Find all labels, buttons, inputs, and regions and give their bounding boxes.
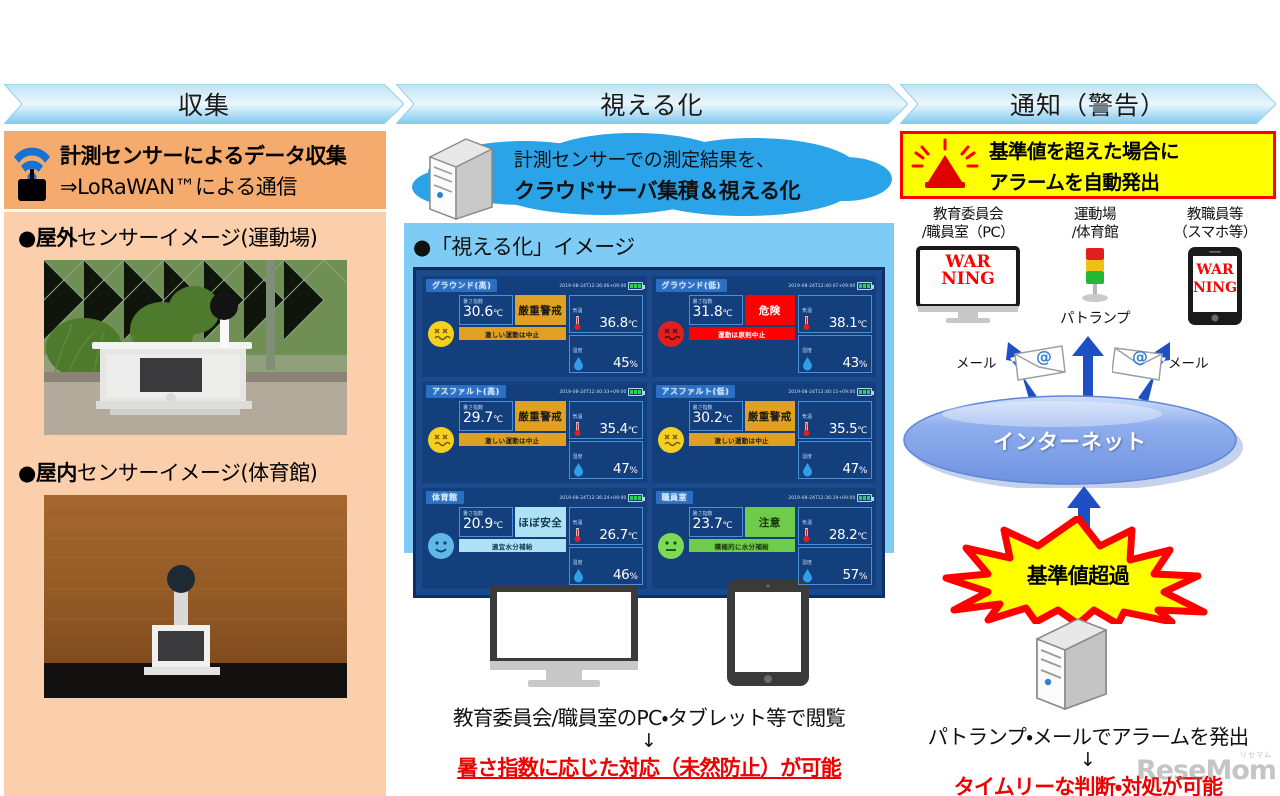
visualize-caption-line2: 暑さ指数に応じた対応（未然防止）が可能 bbox=[404, 752, 894, 782]
dest-label-line1: 運動場 bbox=[1036, 206, 1154, 224]
dashboard-card[interactable]: 職員室2019-08-24T12:36:19+09:00暑さ指数23.7℃注意積… bbox=[652, 488, 877, 589]
alert-level-badge: 厳重警戒 bbox=[515, 295, 565, 325]
indoor-strong: 屋内 bbox=[36, 461, 77, 485]
temperature-row: 35.4℃ bbox=[573, 421, 640, 437]
temperature-label: 気温 bbox=[802, 414, 812, 420]
wbgt-number: 23.7 bbox=[693, 516, 723, 532]
temperature-unit: ℃ bbox=[857, 320, 867, 330]
alarm-callout: 基準値を超えた場合に アラームを自動発出 bbox=[900, 131, 1276, 199]
notify-caption-line1: パトランプ・メールでアラームを発出 bbox=[900, 720, 1276, 750]
card-main: 暑さ指数23.7℃注意積極的に水分補給 bbox=[689, 507, 796, 585]
card-top-row: 暑さ指数30.2℃厳重警戒 bbox=[689, 401, 796, 431]
wbgt-unit: ℃ bbox=[722, 309, 732, 319]
notification-flow: メール @ @ メール bbox=[900, 330, 1276, 722]
cloud-line1: 計測センサーでの測定結果を、 bbox=[514, 145, 800, 172]
stage-header-notify-label: 通知（警告） bbox=[1010, 86, 1166, 122]
card-top-row: 暑さ指数31.8℃危険 bbox=[689, 295, 796, 325]
source-server bbox=[1028, 614, 1114, 714]
indoor-rest: センサーイメージ(体育館) bbox=[77, 461, 317, 485]
temperature-label: 気温 bbox=[573, 520, 583, 526]
card-main: 暑さ指数30.6℃厳重警戒激しい運動は中止 bbox=[459, 295, 566, 373]
card-timestamp: 2019-08-24T12:36:19+09:00 bbox=[789, 495, 856, 500]
humidity-unit: % bbox=[859, 466, 867, 476]
cloud-line2: クラウドサーバ集積＆視える化 bbox=[514, 175, 800, 205]
wbgt-unit: ℃ bbox=[493, 521, 503, 531]
dest-icon-wrap: WAR NING bbox=[900, 246, 1036, 324]
dashboard-card[interactable]: グラウンド(高)2019-08-24T12:36:06+09:00暑さ指数30.… bbox=[422, 276, 647, 377]
temperature-unit: ℃ bbox=[628, 532, 638, 542]
mail-icon: @ bbox=[1112, 340, 1168, 384]
temperature-box: 気温35.5℃ bbox=[798, 401, 872, 439]
card-meta: 2019-08-24T12:40:07+09:00 bbox=[790, 282, 872, 290]
card-metrics: 気温35.5℃湿度47% bbox=[798, 401, 872, 479]
water-drop-icon bbox=[802, 568, 813, 583]
dest-label-line1: 教育委員会 bbox=[900, 206, 1036, 224]
svg-text:@: @ bbox=[1036, 347, 1052, 366]
humidity-label: 湿度 bbox=[802, 348, 812, 354]
notification-destinations: 教育委員会 /職員室（PC） WAR NING bbox=[900, 206, 1276, 328]
wbgt-number: 31.8 bbox=[693, 304, 723, 320]
card-timestamp: 2019-08-24T12:40:07+09:00 bbox=[789, 283, 856, 288]
temperature-number: 36.8 bbox=[599, 315, 627, 331]
card-head: グラウンド(低)2019-08-24T12:40:07+09:00 bbox=[656, 279, 873, 292]
wbgt-number: 29.7 bbox=[463, 410, 493, 426]
card-head: グラウンド(高)2019-08-24T12:36:06+09:00 bbox=[426, 279, 643, 292]
stage-header-notify: 通知（警告） bbox=[900, 84, 1276, 124]
temperature-row: 28.2℃ bbox=[802, 527, 869, 543]
status-face-icon bbox=[656, 295, 686, 373]
wbgt-box: 暑さ指数23.7℃ bbox=[689, 507, 743, 537]
phone-warning-text: WAR NING bbox=[1187, 262, 1243, 297]
temperature-unit: ℃ bbox=[628, 426, 638, 436]
status-face-icon bbox=[656, 507, 686, 585]
alarm-text: 基準値を超えた場合に アラームを自動発出 bbox=[989, 135, 1267, 195]
temperature-number: 26.7 bbox=[599, 527, 627, 543]
card-top-row: 暑さ指数29.7℃厳重警戒 bbox=[459, 401, 566, 431]
wbgt-box: 暑さ指数31.8℃ bbox=[689, 295, 743, 325]
visualization-panel: ●「視える化」イメージ グラウンド(高)2019-08-24T12:36:06+… bbox=[404, 223, 894, 553]
temperature-unit: ℃ bbox=[857, 426, 867, 436]
infographic-root: 収集 視える化 通知（警告） bbox=[0, 0, 1280, 796]
temperature-value: 36.8℃ bbox=[585, 315, 640, 331]
temperature-unit: ℃ bbox=[628, 320, 638, 330]
humidity-number: 47 bbox=[613, 461, 629, 477]
humidity-box: 湿度47% bbox=[798, 441, 872, 479]
alert-level-badge: ほぼ安全 bbox=[515, 507, 565, 537]
card-top-row: 暑さ指数30.6℃厳重警戒 bbox=[459, 295, 566, 325]
humidity-number: 47 bbox=[842, 461, 858, 477]
humidity-box: 湿度57% bbox=[798, 547, 872, 585]
status-face-icon bbox=[426, 401, 456, 479]
burst-label: 基準値超過 bbox=[918, 560, 1238, 590]
temperature-label: 気温 bbox=[802, 308, 812, 314]
stage-header-visualize: 視える化 bbox=[396, 84, 908, 124]
card-timestamp: 2019-08-24T12:36:24+09:00 bbox=[559, 495, 626, 500]
humidity-unit: % bbox=[629, 360, 637, 370]
card-meta: 2019-08-24T12:36:19+09:00 bbox=[790, 494, 872, 502]
temperature-label: 気温 bbox=[573, 308, 583, 314]
humidity-box: 湿度47% bbox=[569, 441, 643, 479]
temperature-number: 35.5 bbox=[829, 421, 857, 437]
thermometer-icon bbox=[573, 315, 582, 331]
wbgt-unit: ℃ bbox=[722, 521, 732, 531]
visualization-title: ●「視える化」イメージ bbox=[413, 231, 885, 261]
card-top-row: 暑さ指数23.7℃注意 bbox=[689, 507, 796, 537]
advice-bar: 激しい運動は中止 bbox=[459, 327, 566, 340]
humidity-value: 46% bbox=[587, 567, 640, 583]
wbgt-box: 暑さ指数29.7℃ bbox=[459, 401, 513, 431]
temperature-row: 26.7℃ bbox=[573, 527, 640, 543]
alarm-light-icon bbox=[909, 138, 981, 192]
thermometer-icon bbox=[802, 315, 811, 331]
card-main: 暑さ指数31.8℃危険運動は原則中止 bbox=[689, 295, 796, 373]
patlite-caption: パトランプ bbox=[1036, 310, 1154, 328]
temperature-value: 35.4℃ bbox=[585, 421, 640, 437]
alert-level-badge: 厳重警戒 bbox=[515, 401, 565, 431]
humidity-value: 57% bbox=[816, 567, 869, 583]
outdoor-rest: センサーイメージ(運動場) bbox=[77, 226, 317, 250]
card-metrics: 気温36.8℃湿度45% bbox=[569, 295, 643, 373]
svg-text:@: @ bbox=[1132, 347, 1148, 366]
alert-level-badge: 注意 bbox=[745, 507, 795, 537]
internet-cloud: インターネット bbox=[902, 392, 1246, 488]
card-timestamp: 2019-08-24T12:40:33+09:00 bbox=[559, 389, 626, 394]
visualize-caption: 教育委員会/職員室のPC・タブレット等で閲覧 ↓ 暑さ指数に応じた対応（未然防止… bbox=[404, 701, 894, 782]
card-body: 暑さ指数30.6℃厳重警戒激しい運動は中止気温36.8℃湿度45% bbox=[426, 295, 643, 373]
card-head: アスファルト(高)2019-08-24T12:40:33+09:00 bbox=[426, 385, 643, 398]
wbgt-number: 30.6 bbox=[463, 304, 493, 320]
dest-label: 運動場 /体育館 bbox=[1036, 206, 1154, 242]
card-head: 職員室2019-08-24T12:36:19+09:00 bbox=[656, 491, 873, 504]
humidity-number: 43 bbox=[842, 355, 858, 371]
alert-level-badge: 危険 bbox=[745, 295, 795, 325]
card-metrics: 気温38.1℃湿度43% bbox=[798, 295, 872, 373]
temperature-box: 気温35.4℃ bbox=[569, 401, 643, 439]
status-face-icon bbox=[426, 295, 456, 373]
card-meta: 2019-08-24T12:40:33+09:00 bbox=[561, 388, 643, 396]
water-drop-icon bbox=[573, 356, 584, 371]
dashboard-card[interactable]: アスファルト(低)2019-08-24T12:40:11+09:00暑さ指数30… bbox=[652, 382, 877, 483]
dashboard-screenshot: グラウンド(高)2019-08-24T12:36:06+09:00暑さ指数30.… bbox=[413, 267, 885, 598]
card-metrics: 気温26.7℃湿度46% bbox=[569, 507, 643, 585]
battery-icon bbox=[857, 388, 872, 396]
visualize-caption-arrow: ↓ bbox=[404, 731, 894, 752]
card-body: 暑さ指数31.8℃危険運動は原則中止気温38.1℃湿度43% bbox=[656, 295, 873, 373]
column-visualize: 計測センサーでの測定結果を、 クラウドサーバ集積＆視える化 ●「視える化」イメー… bbox=[404, 131, 894, 792]
temperature-value: 28.2℃ bbox=[814, 527, 869, 543]
humidity-row: 46% bbox=[573, 567, 640, 583]
battery-icon bbox=[628, 282, 643, 290]
card-body: 暑さ指数20.9℃ほぼ安全適宜水分補給気温26.7℃湿度46% bbox=[426, 507, 643, 585]
temperature-row: 36.8℃ bbox=[573, 315, 640, 331]
wbgt-value: 30.6℃ bbox=[463, 305, 509, 320]
battery-icon bbox=[857, 282, 872, 290]
humidity-label: 湿度 bbox=[802, 560, 812, 566]
water-drop-icon bbox=[802, 462, 813, 477]
status-face-icon bbox=[656, 401, 686, 479]
humidity-unit: % bbox=[629, 572, 637, 582]
temperature-box: 気温26.7℃ bbox=[569, 507, 643, 545]
card-timestamp: 2019-08-24T12:40:11+09:00 bbox=[789, 389, 856, 394]
indoor-sensor-title: ●屋内センサーイメージ(体育館) bbox=[4, 457, 386, 487]
humidity-number: 57 bbox=[842, 567, 858, 583]
temperature-label: 気温 bbox=[573, 414, 583, 420]
notify-caption: パトランプ・メールでアラームを発出 ↓ タイムリーな判断・対処が可能 bbox=[900, 720, 1276, 796]
column-notify: 基準値を超えた場合に アラームを自動発出 教育委員会 /職員室（PC） bbox=[900, 131, 1276, 792]
indoor-photo-graphic bbox=[44, 495, 347, 698]
card-metrics: 気温35.4℃湿度47% bbox=[569, 401, 643, 479]
outdoor-sensor-photo bbox=[44, 260, 347, 435]
temperature-row: 38.1℃ bbox=[802, 315, 869, 331]
wbgt-box: 暑さ指数30.6℃ bbox=[459, 295, 513, 325]
dashboard-card[interactable]: グラウンド(低)2019-08-24T12:40:07+09:00暑さ指数31.… bbox=[652, 276, 877, 377]
collect-panel-line2: ⇒LoRaWAN™による通信 bbox=[60, 171, 378, 201]
wbgt-box: 暑さ指数20.9℃ bbox=[459, 507, 513, 537]
wbgt-value: 20.9℃ bbox=[463, 517, 509, 532]
advice-bar: 激しい運動は中止 bbox=[689, 433, 796, 446]
card-location-name: 職員室 bbox=[656, 491, 694, 504]
dest-label-line2: /職員室（PC） bbox=[900, 224, 1036, 242]
water-drop-icon bbox=[573, 568, 584, 583]
thermometer-icon bbox=[573, 421, 582, 437]
card-main: 暑さ指数20.9℃ほぼ安全適宜水分補給 bbox=[459, 507, 566, 585]
card-top-row: 暑さ指数20.9℃ほぼ安全 bbox=[459, 507, 566, 537]
watermark-sub: リセマム bbox=[1240, 750, 1272, 760]
tablet-icon bbox=[726, 579, 810, 687]
dest-label: 教職員等 （スマホ等） bbox=[1154, 206, 1276, 242]
thermometer-icon bbox=[573, 527, 582, 543]
card-main: 暑さ指数29.7℃厳重警戒激しい運動は中止 bbox=[459, 401, 566, 479]
temperature-value: 35.5℃ bbox=[814, 421, 869, 437]
bullet: ● bbox=[18, 461, 36, 485]
wbgt-box: 暑さ指数30.2℃ bbox=[689, 401, 743, 431]
humidity-label: 湿度 bbox=[802, 454, 812, 460]
alarm-line2: アラームを自動発出 bbox=[989, 166, 1267, 195]
temperature-row: 35.5℃ bbox=[802, 421, 869, 437]
outdoor-strong: 屋外 bbox=[36, 226, 77, 250]
humidity-value: 47% bbox=[587, 461, 640, 477]
warning-line1: WAR bbox=[1187, 262, 1243, 280]
humidity-unit: % bbox=[629, 466, 637, 476]
dest-label-line2: /体育館 bbox=[1036, 224, 1154, 242]
dest-board-of-education: 教育委員会 /職員室（PC） WAR NING bbox=[900, 206, 1036, 328]
desktop-monitor-icon bbox=[488, 583, 640, 687]
sensor-images-panel: ●屋外センサーイメージ(運動場) bbox=[4, 212, 386, 796]
thermometer-icon bbox=[802, 421, 811, 437]
column-collect: 計測センサーによるデータ収集 ⇒LoRaWAN™による通信 ●屋外センサーイメー… bbox=[4, 131, 386, 792]
temperature-number: 38.1 bbox=[829, 315, 857, 331]
temperature-box: 気温38.1℃ bbox=[798, 295, 872, 333]
advice-bar: 適宜水分補給 bbox=[459, 539, 566, 552]
humidity-label: 湿度 bbox=[573, 560, 583, 566]
temperature-label: 気温 bbox=[802, 520, 812, 526]
humidity-unit: % bbox=[859, 572, 867, 582]
wbgt-value: 29.7℃ bbox=[463, 411, 509, 426]
humidity-number: 46 bbox=[613, 567, 629, 583]
battery-icon bbox=[857, 494, 872, 502]
notify-caption-arrow: ↓ bbox=[900, 750, 1276, 771]
dest-icon-wrap: WAR NING bbox=[1154, 246, 1276, 326]
stage-header-visualize-label: 視える化 bbox=[600, 86, 703, 122]
humidity-row: 47% bbox=[573, 461, 640, 477]
humidity-value: 43% bbox=[816, 355, 869, 371]
humidity-box: 湿度45% bbox=[569, 335, 643, 373]
wbgt-value: 23.7℃ bbox=[693, 517, 739, 532]
humidity-box: 湿度46% bbox=[569, 547, 643, 585]
humidity-row: 45% bbox=[573, 355, 640, 371]
mail-right-label: メール bbox=[1168, 356, 1209, 372]
wbgt-value: 30.2℃ bbox=[693, 411, 739, 426]
wbgt-unit: ℃ bbox=[493, 415, 503, 425]
humidity-unit: % bbox=[859, 360, 867, 370]
temperature-number: 35.4 bbox=[599, 421, 627, 437]
card-location-name: アスファルト(高) bbox=[426, 385, 506, 398]
dashboard-card[interactable]: アスファルト(高)2019-08-24T12:40:33+09:00暑さ指数29… bbox=[422, 382, 647, 483]
card-location-name: アスファルト(低) bbox=[656, 385, 736, 398]
water-drop-icon bbox=[802, 356, 813, 371]
humidity-number: 45 bbox=[613, 355, 629, 371]
viewing-devices bbox=[404, 579, 894, 687]
bullet: ● bbox=[18, 226, 36, 250]
warning-line2: NING bbox=[1187, 280, 1243, 298]
stage-header-collect-label: 収集 bbox=[178, 86, 230, 122]
dest-icon-wrap bbox=[1036, 246, 1154, 308]
card-head: アスファルト(低)2019-08-24T12:40:11+09:00 bbox=[656, 385, 873, 398]
dest-ground-gym: 運動場 /体育館 パトランプ bbox=[1036, 206, 1154, 328]
card-body: 暑さ指数29.7℃厳重警戒激しい運動は中止気温35.4℃湿度47% bbox=[426, 401, 643, 479]
server-icon bbox=[422, 135, 498, 221]
alarm-line1: 基準値を超えた場合に bbox=[989, 135, 1267, 164]
dest-label-line2: （スマホ等） bbox=[1154, 224, 1276, 242]
visualize-caption-line1: 教育委員会/職員室のPC・タブレット等で閲覧 bbox=[404, 701, 894, 731]
dest-label: 教育委員会 /職員室（PC） bbox=[900, 206, 1036, 242]
humidity-box: 湿度43% bbox=[798, 335, 872, 373]
threshold-burst: 基準値超過 bbox=[918, 516, 1238, 624]
wbgt-value: 31.8℃ bbox=[693, 305, 739, 320]
card-location-name: グラウンド(高) bbox=[426, 279, 497, 292]
card-head: 体育館2019-08-24T12:36:24+09:00 bbox=[426, 491, 643, 504]
collect-panel: 計測センサーによるデータ収集 ⇒LoRaWAN™による通信 bbox=[4, 131, 386, 209]
collect-panel-line1: 計測センサーによるデータ収集 bbox=[60, 140, 378, 170]
battery-icon bbox=[628, 388, 643, 396]
humidity-label: 湿度 bbox=[573, 348, 583, 354]
card-timestamp: 2019-08-24T12:36:06+09:00 bbox=[559, 283, 626, 288]
dest-teachers: 教職員等 （スマホ等） WAR NING bbox=[1154, 206, 1276, 328]
stage-header-collect: 収集 bbox=[4, 84, 404, 124]
card-location-name: グラウンド(低) bbox=[656, 279, 727, 292]
advice-bar: 激しい運動は中止 bbox=[459, 433, 566, 446]
mail-left-group: メール bbox=[956, 352, 997, 372]
card-meta: 2019-08-24T12:36:24+09:00 bbox=[561, 494, 643, 502]
internet-label: インターネット bbox=[902, 426, 1238, 456]
wbgt-number: 20.9 bbox=[463, 516, 493, 532]
card-main: 暑さ指数30.2℃厳重警戒激しい運動は中止 bbox=[689, 401, 796, 479]
cloud-callout: 計測センサーでの測定結果を、 クラウドサーバ集積＆視える化 bbox=[404, 131, 894, 223]
humidity-row: 57% bbox=[802, 567, 869, 583]
humidity-value: 45% bbox=[587, 355, 640, 371]
cloud-text: 計測センサーでの測定結果を、 クラウドサーバ集積＆視える化 bbox=[514, 145, 800, 205]
patlite-tower-icon bbox=[1073, 246, 1117, 308]
mail-right-group: メール bbox=[1168, 352, 1209, 372]
card-meta: 2019-08-24T12:40:11+09:00 bbox=[790, 388, 872, 396]
outdoor-sensor-title: ●屋外センサーイメージ(運動場) bbox=[4, 222, 386, 252]
status-face-icon bbox=[426, 507, 456, 585]
humidity-label: 湿度 bbox=[573, 454, 583, 460]
humidity-row: 47% bbox=[802, 461, 869, 477]
thermometer-icon bbox=[802, 527, 811, 543]
water-drop-icon bbox=[573, 462, 584, 477]
wbgt-unit: ℃ bbox=[722, 415, 732, 425]
outdoor-photo-graphic bbox=[44, 260, 347, 435]
indoor-sensor-photo bbox=[44, 495, 347, 698]
card-body: 暑さ指数23.7℃注意積極的に水分補給気温28.2℃湿度57% bbox=[656, 507, 873, 585]
notify-caption-line2: タイムリーな判断・対処が可能 bbox=[900, 771, 1276, 796]
card-body: 暑さ指数30.2℃厳重警戒激しい運動は中止気温35.5℃湿度47% bbox=[656, 401, 873, 479]
temperature-box: 気温28.2℃ bbox=[798, 507, 872, 545]
wbgt-number: 30.2 bbox=[693, 410, 723, 426]
card-location-name: 体育館 bbox=[426, 491, 464, 504]
humidity-value: 47% bbox=[816, 461, 869, 477]
battery-icon bbox=[628, 494, 643, 502]
wifi-sensor-icon bbox=[10, 139, 54, 201]
server-icon bbox=[1028, 614, 1114, 710]
temperature-value: 26.7℃ bbox=[585, 527, 640, 543]
temperature-unit: ℃ bbox=[857, 532, 867, 542]
mail-icon: @ bbox=[1012, 340, 1068, 384]
monitor-warning-text: WAR NING bbox=[916, 254, 1020, 288]
dashboard-card[interactable]: 体育館2019-08-24T12:36:24+09:00暑さ指数20.9℃ほぼ安… bbox=[422, 488, 647, 589]
temperature-value: 38.1℃ bbox=[814, 315, 869, 331]
card-meta: 2019-08-24T12:36:06+09:00 bbox=[561, 282, 643, 290]
warning-line2: NING bbox=[916, 271, 1020, 288]
advice-bar: 運動は原則中止 bbox=[689, 327, 796, 340]
alert-level-badge: 厳重警戒 bbox=[745, 401, 795, 431]
mail-left-label: メール bbox=[956, 356, 997, 372]
temperature-box: 気温36.8℃ bbox=[569, 295, 643, 333]
advice-bar: 積極的に水分補給 bbox=[689, 539, 796, 552]
humidity-row: 43% bbox=[802, 355, 869, 371]
temperature-number: 28.2 bbox=[829, 527, 857, 543]
card-metrics: 気温28.2℃湿度57% bbox=[798, 507, 872, 585]
dest-label-line1: 教職員等 bbox=[1154, 206, 1276, 224]
wbgt-unit: ℃ bbox=[493, 309, 503, 319]
